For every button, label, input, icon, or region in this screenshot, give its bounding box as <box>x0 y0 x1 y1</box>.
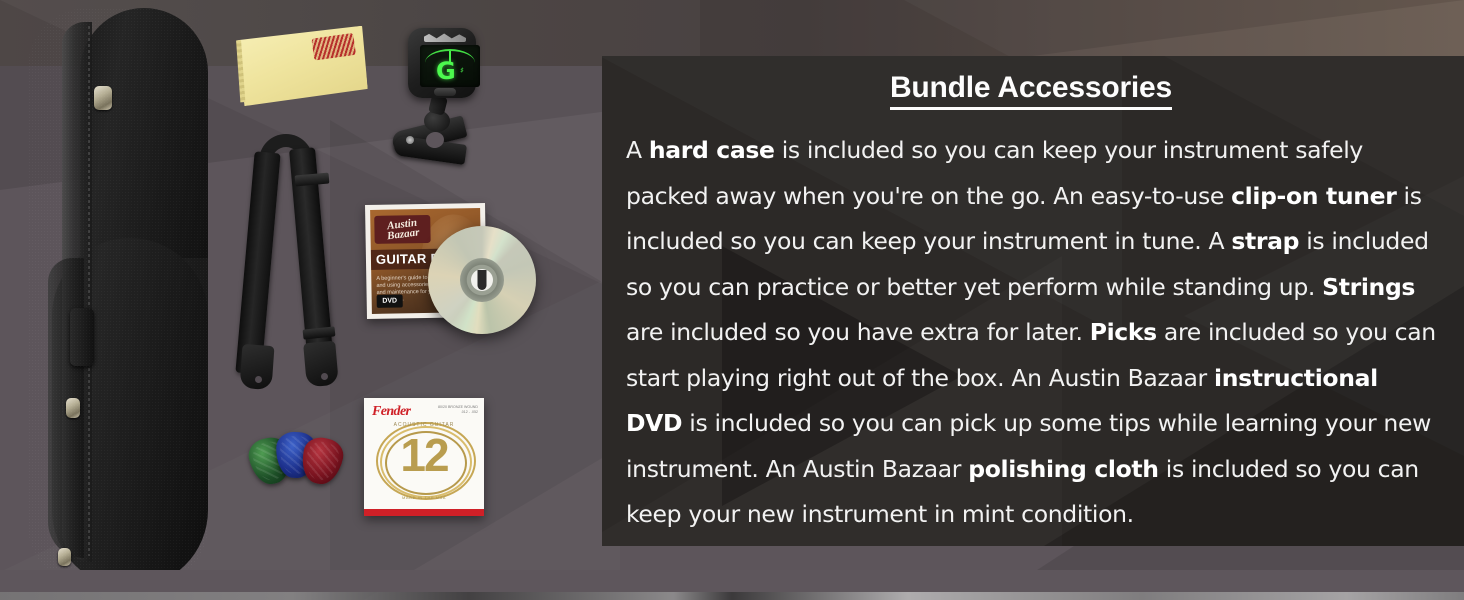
tuner-clamp-screw <box>406 136 414 144</box>
tuner-head: G ♯ <box>408 28 476 98</box>
panel-body-emphasis: strap <box>1231 227 1299 255</box>
bundle-accessories-panel: Bundle Accessories A hard case is includ… <box>602 56 1464 546</box>
bundle-accessories-banner: G ♯ <box>0 0 1464 600</box>
tuner-power-button <box>434 88 456 96</box>
product-image-group: G ♯ <box>0 0 600 600</box>
panel-body-emphasis: clip-on tuner <box>1231 182 1396 210</box>
panel-body-emphasis: hard case <box>649 136 775 164</box>
fender-wordmark: Fender <box>372 404 410 420</box>
bottom-edge-band <box>0 570 1464 592</box>
hard-case-latch-middle <box>66 398 80 418</box>
tuner-lcd-note: G <box>436 59 456 83</box>
strap-left-length <box>235 151 280 374</box>
fender-logo-icon <box>424 33 466 42</box>
hard-case-latch-bottom <box>58 548 71 566</box>
panel-title: Bundle Accessories <box>626 70 1436 106</box>
dvd-brand-line2: Bazaar <box>386 226 420 242</box>
strap-button-hole-right <box>321 373 328 380</box>
strap-end-tab-right <box>303 341 339 388</box>
strings-red-footer-bar <box>364 509 484 516</box>
polishing-cloth-image <box>236 26 369 107</box>
hard-case-latch-top <box>94 86 112 110</box>
panel-body-emphasis: polishing cloth <box>968 455 1158 483</box>
guitar-strap-image <box>243 130 348 392</box>
tuner-lcd-screen: G ♯ <box>420 45 480 87</box>
guitar-picks-image <box>250 432 354 494</box>
dvd-format-badge: DVD <box>377 294 403 307</box>
panel-body-text: A hard case is included so you can keep … <box>626 128 1436 538</box>
strings-spec-text: 80/20 BRONZE WOUND .012 - .052 <box>438 405 478 415</box>
dvd-disc <box>428 226 536 334</box>
strap-button-hole-left <box>255 376 262 383</box>
bottom-filmstrip <box>0 592 1464 600</box>
panel-body-run: A <box>626 136 649 164</box>
strings-gauge-number: 12 <box>364 432 484 478</box>
strings-spec-line2: .012 - .052 <box>461 410 478 414</box>
instructional-dvd-image: Austin Bazaar GUITAR ESSENTIALS A beginn… <box>366 204 526 354</box>
strings-made-in-label: MADE IN THE USA <box>364 495 484 500</box>
panel-body-run: are included so you have extra for later… <box>626 318 1090 346</box>
strings-spec-line1: 80/20 BRONZE WOUND <box>438 405 478 409</box>
panel-body-emphasis: Strings <box>1322 273 1415 301</box>
strings-type-label: ACOUSTIC GUITAR <box>364 422 484 428</box>
austin-bazaar-badge-icon: Austin Bazaar <box>374 215 430 244</box>
hard-case-handle <box>70 308 94 366</box>
hard-case-seam <box>88 26 90 556</box>
strap-adjuster-upper <box>295 173 330 187</box>
panel-title-text: Bundle Accessories <box>890 71 1172 110</box>
clip-on-tuner-image: G ♯ <box>400 28 492 168</box>
hard-case-image <box>28 8 208 586</box>
tuner-lcd-sharp-indicator: ♯ <box>460 66 464 75</box>
guitar-strings-package-image: Fender 80/20 BRONZE WOUND .012 - .052 AC… <box>364 398 484 516</box>
strap-end-tab-left <box>240 344 275 390</box>
panel-body-emphasis: Picks <box>1090 318 1157 346</box>
dvd-disc-hub <box>471 269 493 291</box>
